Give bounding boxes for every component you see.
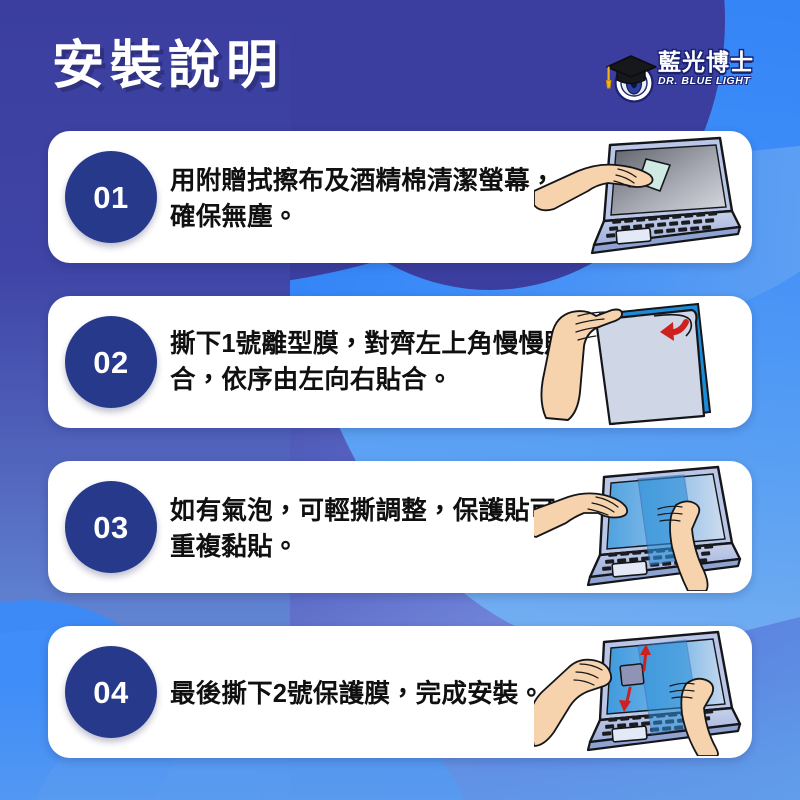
laptop-hand-wiping-screen-icon — [534, 135, 742, 261]
step-text: 如有氣泡，可輕撕調整，保護貼可重複黏貼。 — [170, 493, 570, 565]
step-number: 02 — [93, 347, 128, 378]
brand-name-english: DR. BLUE LIGHT — [658, 76, 764, 87]
hands-peeling-protective-film-icon — [534, 630, 742, 756]
step-number-badge: 03 — [65, 481, 157, 573]
graduation-cap-eye-icon — [604, 52, 658, 104]
step-card: 04 最後撕下2號保護膜，完成安裝。 — [48, 626, 752, 758]
poster-header: 安裝說明 藍光博士 — [0, 0, 800, 125]
step-card: 01 用附贈拭擦布及酒精棉清潔螢幕，確保無塵。 — [48, 131, 752, 263]
brand-logo: 藍光博士 DR. BLUE LIGHT — [604, 50, 764, 108]
step-text: 最後撕下2號保護膜，完成安裝。 — [170, 676, 570, 712]
step-number: 03 — [93, 512, 128, 543]
step-number: 01 — [93, 182, 128, 213]
step-card: 02 撕下1號離型膜，對齊左上角慢慢貼合，依序由左向右貼合。 — [48, 296, 752, 428]
page-title: 安裝說明 — [52, 40, 284, 92]
brand-name-chinese: 藍光博士 — [658, 50, 764, 74]
step-text: 用附贈拭擦布及酒精棉清潔螢幕，確保無塵。 — [170, 163, 570, 235]
step-number-badge: 04 — [65, 646, 157, 738]
step-text: 撕下1號離型膜，對齊左上角慢慢貼合，依序由左向右貼合。 — [170, 326, 570, 398]
step-card: 03 如有氣泡，可輕撕調整，保護貼可重複黏貼。 — [48, 461, 752, 593]
hands-smoothing-film-on-laptop-icon — [534, 465, 742, 591]
step-number: 04 — [93, 677, 128, 708]
installation-instructions-poster: 安裝說明 藍光博士 — [0, 0, 800, 800]
step-number-badge: 01 — [65, 151, 157, 243]
brand-logo-text: 藍光博士 DR. BLUE LIGHT — [658, 50, 764, 87]
hand-peeling-release-film-icon — [534, 300, 742, 426]
step-number-badge: 02 — [65, 316, 157, 408]
